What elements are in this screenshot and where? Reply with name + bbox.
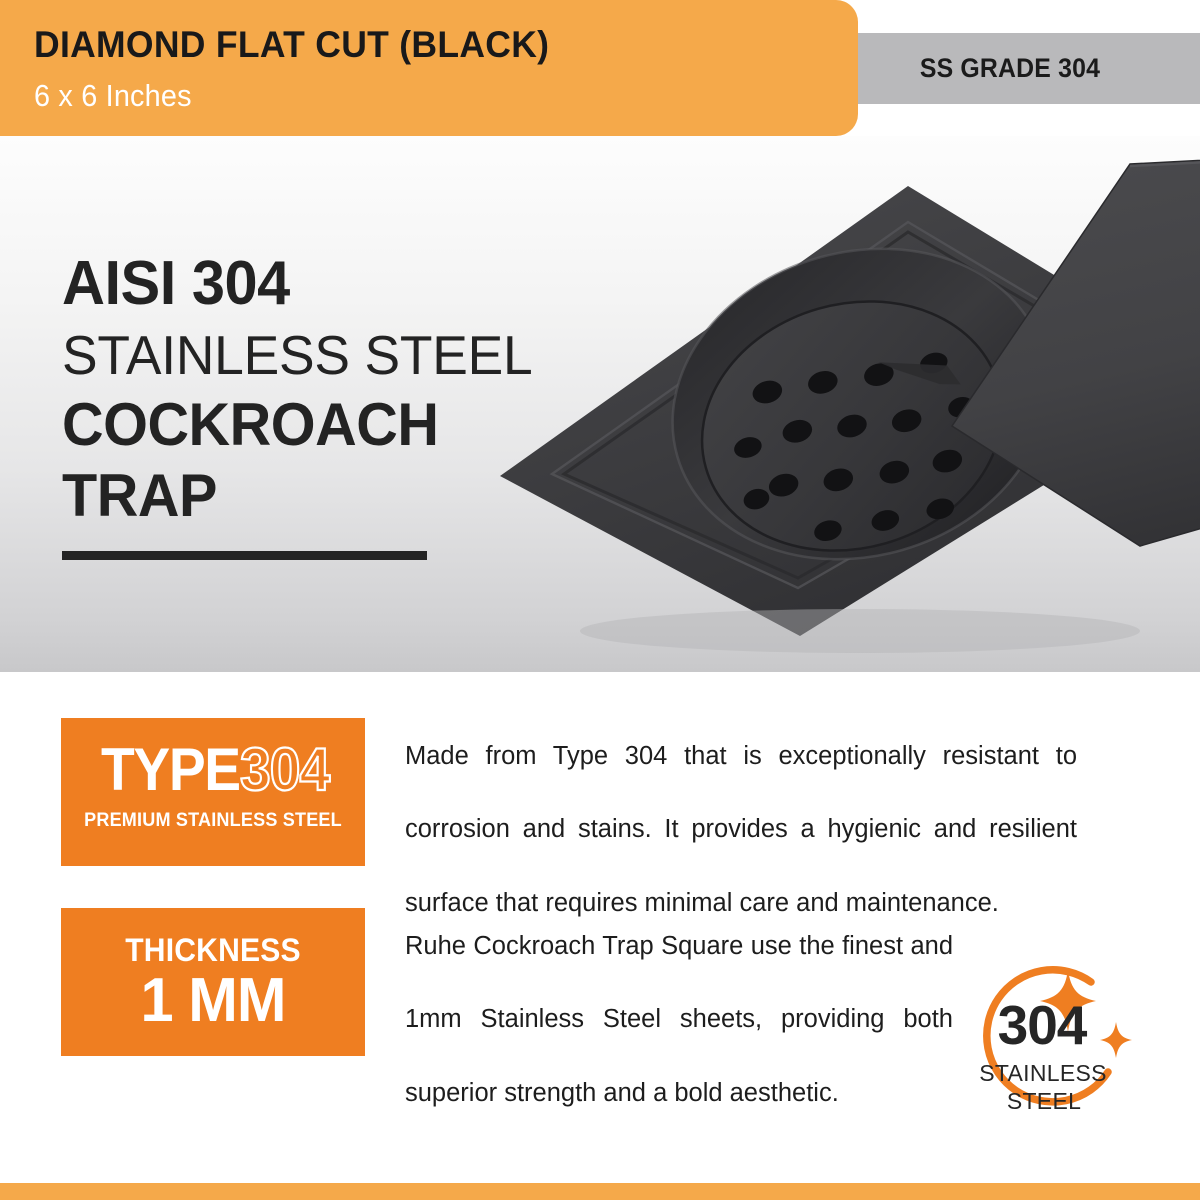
product-title: DIAMOND FLAT CUT (BLACK) [34,24,549,66]
ss-grade-bar: SS GRADE 304 [855,33,1200,104]
badge-type-number: 304 [240,740,329,800]
circle-badge-304: 304 STAINLESS STEEL [968,962,1148,1134]
infographic-page: SS GRADE 304 DIAMOND FLAT CUT (BLACK) 6 … [0,0,1200,1200]
feature-description-1: Made from Type 304 that is exceptionally… [405,738,1077,922]
ss-grade-label: SS GRADE 304 [867,33,1152,104]
badge-thickness-value: 1 MM [67,970,359,1032]
badge-thickness-label: THICKNESS [70,932,356,969]
heading-line-aisi: AISI 304 [62,254,528,315]
feature-2-line-2: 1mm Stainless Steel sheets, providing bo… [405,1001,953,1074]
feature-1-line-2: corrosion and stains. It provides a hygi… [405,811,1077,884]
feature-description-2: Ruhe Cockroach Trap Square use the fines… [405,928,953,1112]
heading-underline-rule [62,551,427,560]
feature-2-line-3: superior strength and a bold aesthetic. [405,1075,953,1112]
product-size: 6 x 6 Inches [34,78,192,114]
heading-line-cockroach: COCKROACH [62,396,528,455]
circle-badge-line-stainless: STAINLESS [968,1060,1118,1087]
badge-type-caption: PREMIUM STAINLESS STEEL [69,810,358,832]
feature-1-line-1: Made from Type 304 that is exceptionally… [405,738,1077,811]
product-shadow [580,609,1140,653]
header: SS GRADE 304 DIAMOND FLAT CUT (BLACK) 6 … [0,0,1200,136]
badge-type-304: TYPE304 PREMIUM STAINLESS STEEL [61,718,365,866]
badge-type-304-title: TYPE304 [61,740,365,800]
product-image [440,136,1200,672]
hero-heading: AISI 304 STAINLESS STEEL COCKROACH TRAP [62,254,547,560]
header-orange-panel: DIAMOND FLAT CUT (BLACK) 6 x 6 Inches [0,0,858,136]
badge-thickness: THICKNESS 1 MM [61,908,365,1056]
heading-line-stainless-steel: STAINLESS STEEL [62,329,532,383]
footer-accent-bar [0,1183,1200,1200]
heading-line-trap: TRAP [62,467,528,526]
feature-2-line-1: Ruhe Cockroach Trap Square use the fines… [405,928,953,1001]
hero-section: AISI 304 STAINLESS STEEL COCKROACH TRAP [0,136,1200,672]
badge-type-word: TYPE [101,740,240,800]
feature-row-type304: TYPE304 PREMIUM STAINLESS STEEL Made fro… [0,718,1200,868]
circle-badge-line-steel: STEEL [968,1088,1120,1115]
circle-badge-number: 304 [968,998,1116,1053]
